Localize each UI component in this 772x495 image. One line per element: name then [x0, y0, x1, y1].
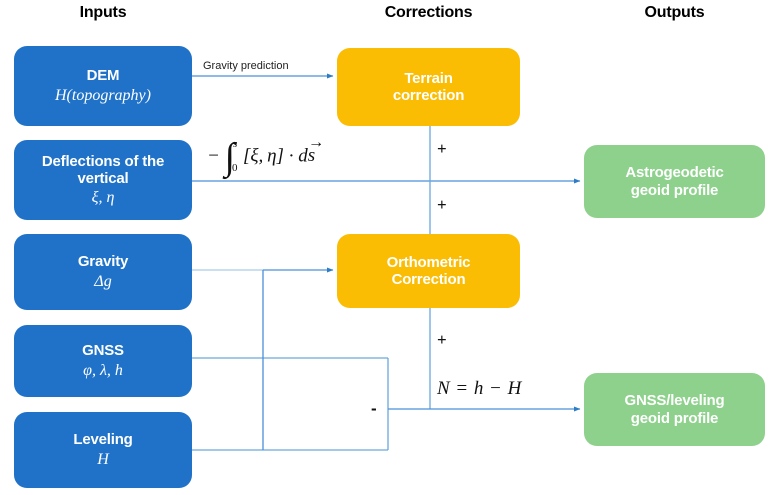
node-input-dem[interactable]: DEM H(topography) [14, 46, 192, 126]
node-title: Deflections of the [42, 153, 164, 170]
node-correction-terrain[interactable]: Terrain correction [337, 48, 520, 126]
node-title-second-line: vertical [78, 170, 129, 187]
formula-d: d [298, 145, 308, 166]
node-title-second-line: geoid profile [631, 410, 718, 427]
edge-label-gravity-prediction: Gravity prediction [203, 60, 289, 72]
formula-eta: η [267, 145, 276, 166]
node-subtitle: Δg [94, 272, 111, 291]
node-correction-orthometric[interactable]: Orthometric Correction [337, 234, 520, 308]
node-subtitle: H(topography) [55, 86, 151, 105]
node-title: Gravity [78, 253, 128, 270]
formula-geoid-height: N = h − H [437, 378, 522, 400]
integral-lower-limit: 0 [232, 162, 238, 174]
node-title: Leveling [73, 431, 132, 448]
node-title: Astrogeodetic [625, 164, 723, 181]
column-title-inputs: Inputs [14, 4, 192, 22]
formula-bracket-close: ] [277, 145, 284, 166]
formula-N: N [437, 378, 451, 399]
node-subtitle: φ, λ, h [83, 361, 123, 380]
operator-plus-gnss: + [437, 330, 447, 350]
node-title: Terrain [404, 70, 452, 87]
node-output-astrogeodetic[interactable]: Astrogeodetic geoid profile [584, 145, 765, 218]
formula-h: h [474, 378, 485, 399]
node-output-gnss-leveling[interactable]: GNSS/leveling geoid profile [584, 373, 765, 446]
formula-H: H [508, 378, 523, 399]
formula-comma: , [259, 145, 264, 166]
node-subtitle: ξ, η [92, 188, 115, 207]
vector-arrow-accent: → [308, 134, 324, 152]
formula-deflection-integral: − ∫ s 0 [ξ, η] · d→s [207, 140, 315, 174]
operator-minus-difference: - [371, 400, 377, 417]
node-title: GNSS/leveling [625, 392, 725, 409]
node-title-second-line: Correction [392, 271, 466, 288]
node-title: DEM [87, 67, 120, 84]
node-input-gravity[interactable]: Gravity Δg [14, 234, 192, 310]
integral-group: ∫ s 0 [225, 140, 243, 174]
formula-xi: ξ [250, 145, 258, 166]
formula-dot: · [289, 145, 294, 166]
integral-limits: s 0 [235, 140, 243, 174]
node-title: Orthometric [387, 254, 471, 271]
operator-plus-orthometric: + [437, 195, 447, 215]
column-title-outputs: Outputs [584, 4, 765, 22]
formula-equals: = [456, 378, 468, 399]
node-input-deflections[interactable]: Deflections of the vertical ξ, η [14, 140, 192, 220]
integral-upper-limit: s [233, 138, 237, 150]
formula-minus-operator: − [490, 378, 502, 399]
node-title-second-line: geoid profile [631, 182, 718, 199]
node-subtitle: H [97, 450, 109, 469]
formula-minus: − [207, 145, 220, 166]
flowchart-diagram: Inputs Corrections Outputs [0, 0, 772, 495]
formula-s-vector: →s [308, 145, 315, 167]
node-input-leveling[interactable]: Leveling H [14, 412, 192, 488]
node-input-gnss[interactable]: GNSS φ, λ, h [14, 325, 192, 397]
operator-plus-terrain: + [437, 139, 447, 159]
node-title-second-line: correction [393, 87, 464, 104]
column-title-corrections: Corrections [337, 4, 520, 22]
node-title: GNSS [82, 342, 124, 359]
